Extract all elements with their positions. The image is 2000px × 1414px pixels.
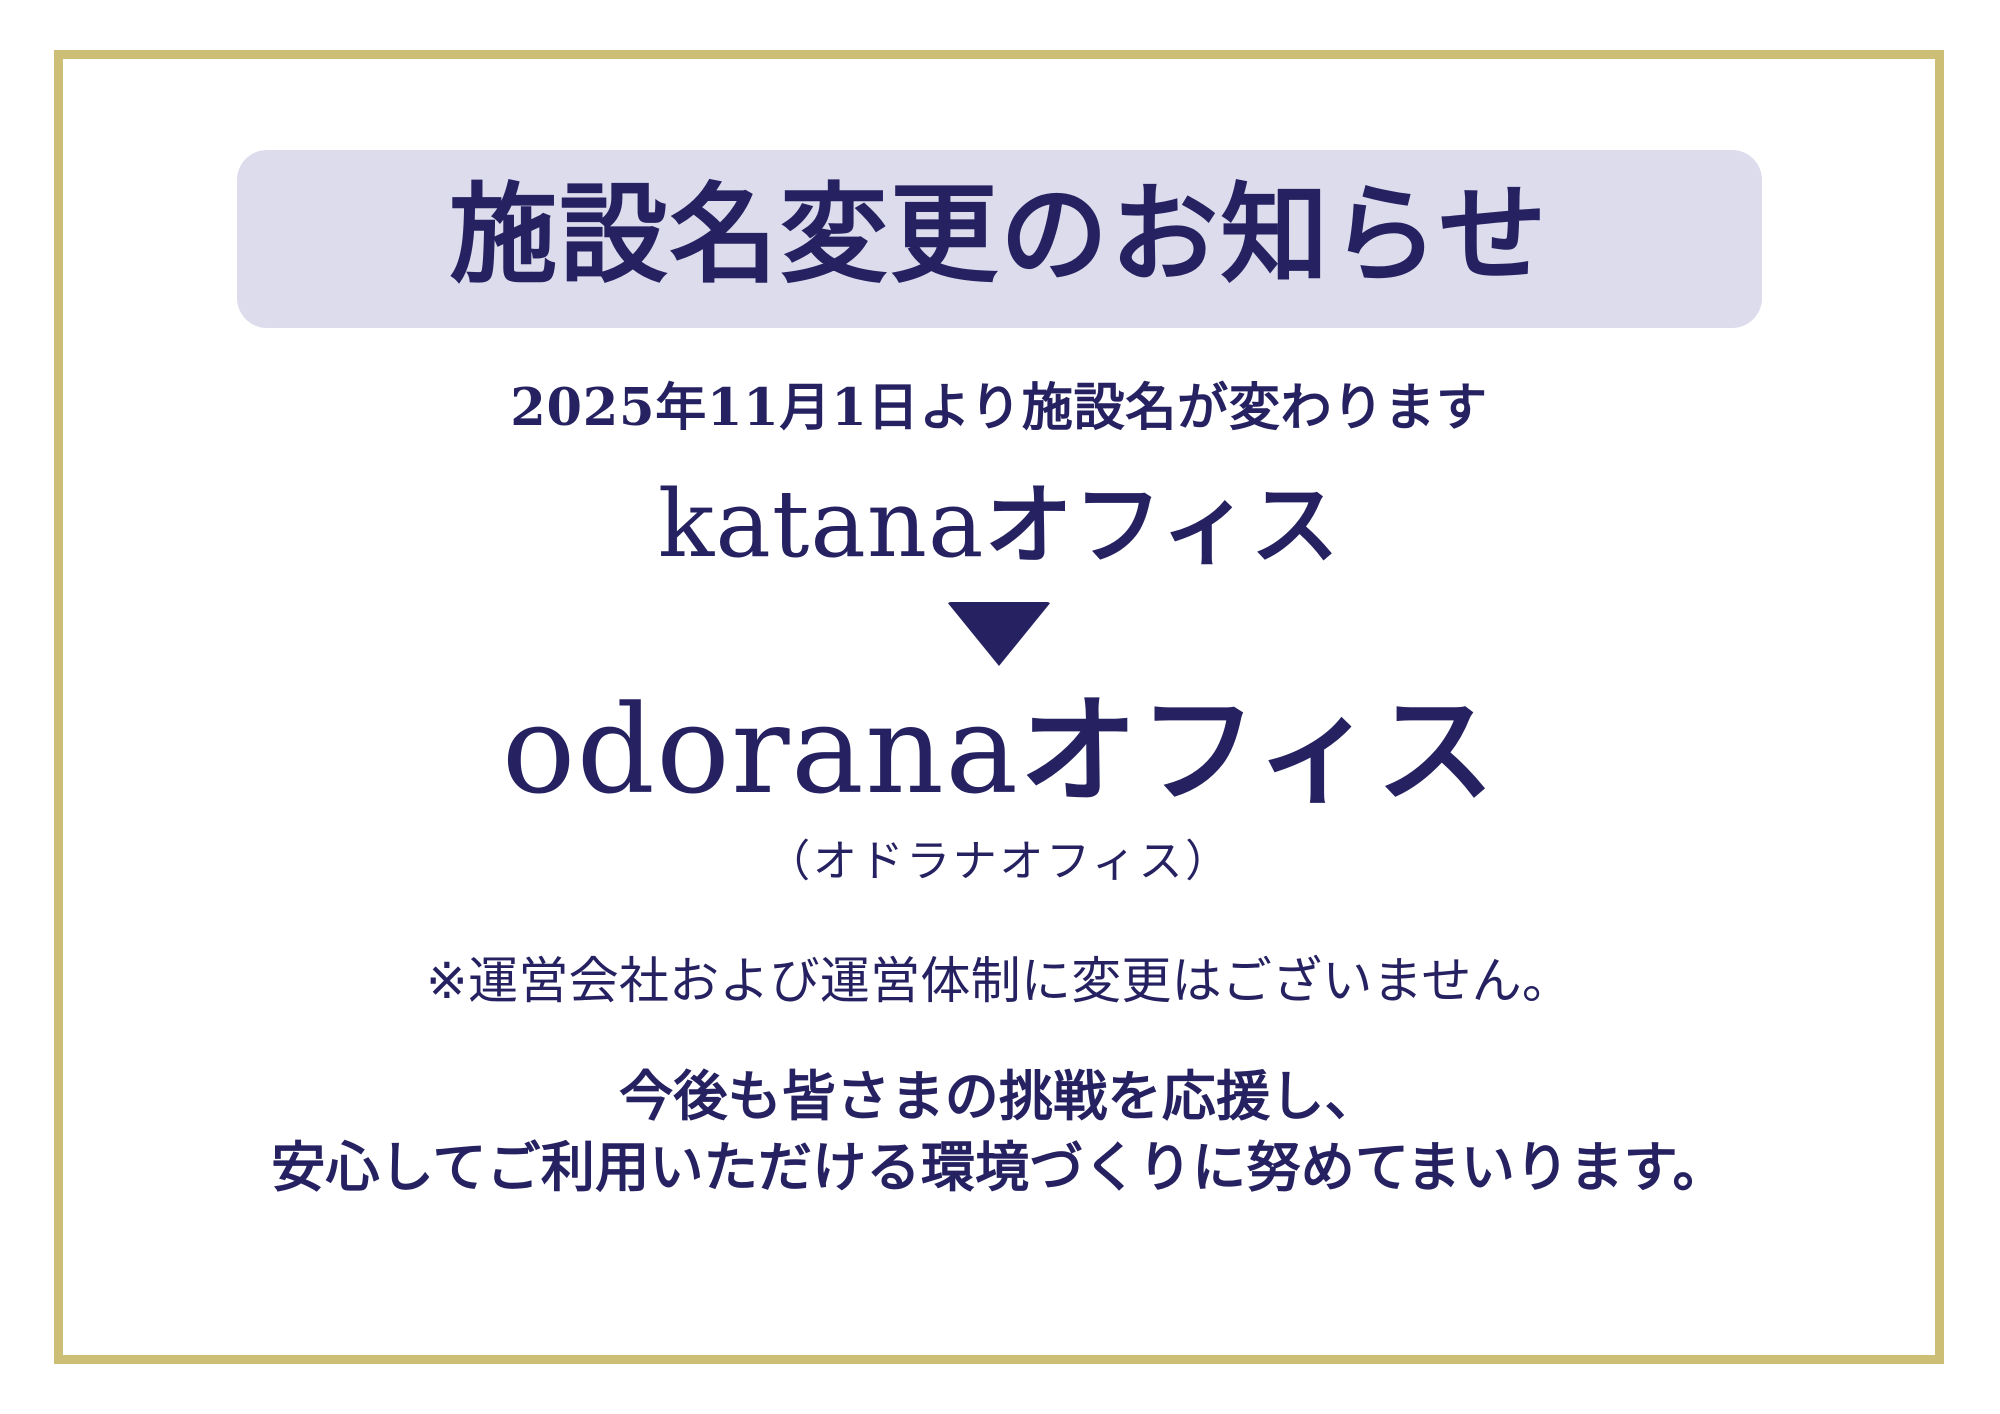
triangle-down-icon xyxy=(947,602,1051,666)
change-arrow xyxy=(947,597,1051,671)
new-facility-name-latin: odorana xyxy=(502,679,1020,821)
new-facility-name: odoranaオフィス xyxy=(502,689,1496,811)
new-facility-name-kana: オフィス xyxy=(1019,682,1496,820)
closing-message-line-1: 今後も皆さまの挑戦を応援し、 xyxy=(271,1061,1727,1132)
closing-message: 今後も皆さまの挑戦を応援し、 安心してご利用いただける環境づくりに努めてまいりま… xyxy=(271,1061,1727,1204)
operations-unchanged-note: ※運営会社および運営体制に変更はございません。 xyxy=(426,941,1572,1013)
old-facility-name: katanaオフィス xyxy=(658,478,1340,571)
old-facility-name-latin: katana xyxy=(658,470,985,578)
closing-message-line-2: 安心してご利用いただける環境づくりに努めてまいります。 xyxy=(271,1132,1727,1203)
effective-date-notice: 2025年11月1日より施設名が変わります xyxy=(510,380,1487,436)
new-facility-name-reading: （オドラナオフィス） xyxy=(766,825,1232,889)
title-banner: 施設名変更のお知らせ xyxy=(237,150,1762,328)
page-title: 施設名変更のお知らせ xyxy=(449,181,1548,289)
old-facility-name-kana: オフィス xyxy=(985,474,1341,577)
notice-poster: 施設名変更のお知らせ 2025年11月1日より施設名が変わります katanaオ… xyxy=(0,0,2000,1414)
poster-content: 施設名変更のお知らせ 2025年11月1日より施設名が変わります katanaオ… xyxy=(54,50,1944,1364)
